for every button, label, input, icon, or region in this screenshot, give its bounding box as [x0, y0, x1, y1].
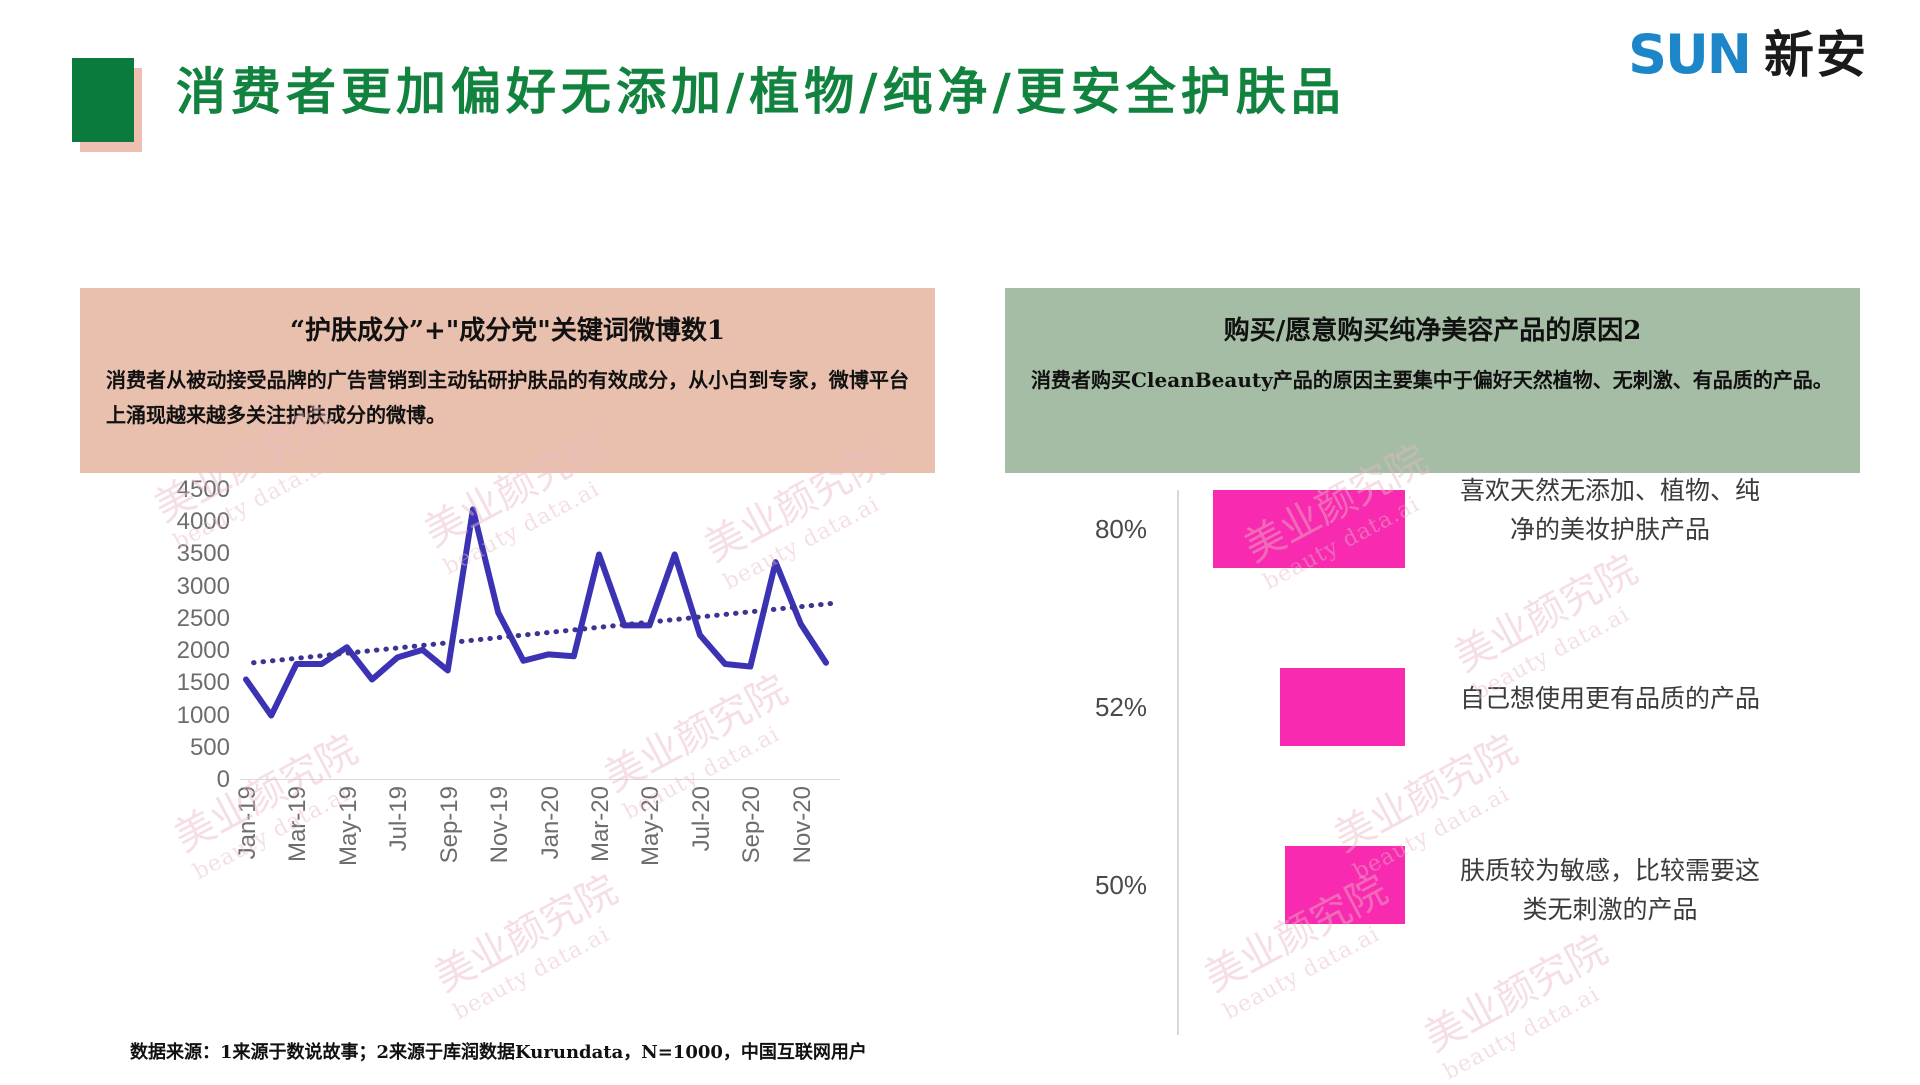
right-panel-title: 购买/愿意购买纯净美容产品的原因2: [1031, 310, 1834, 347]
x-axis-tick: May-20: [637, 786, 665, 866]
y-axis-tick: 2500: [177, 605, 230, 633]
x-axis-tick: Mar-19: [284, 786, 312, 862]
bar-chart-row: 52%: [1005, 668, 1905, 746]
line-chart-x-axis: Jan-19Mar-19May-19Jul-19Sep-19Nov-19Jan-…: [240, 786, 840, 916]
bar-chart-baseline: [1177, 490, 1179, 1035]
y-axis-tick: 0: [217, 766, 230, 794]
title-marker: [72, 58, 134, 142]
bar-fill: [1280, 668, 1405, 746]
bar-fill: [1213, 490, 1405, 568]
x-axis-tick: Nov-20: [789, 786, 817, 863]
page-title: 消费者更加偏好无添加/植物/纯净/更安全护肤品: [176, 52, 1346, 124]
bar-category-label: 肤质较为敏感，比较需要这类无刺激的产品: [1460, 852, 1760, 930]
y-axis-tick: 2000: [177, 637, 230, 665]
y-axis-tick: 1000: [177, 702, 230, 730]
x-axis-tick: Jan-19: [234, 786, 262, 859]
weibo-keyword-line-chart: 450040003500300025002000150010005000 Jan…: [80, 490, 940, 1010]
x-axis-tick: Nov-19: [486, 786, 514, 863]
bar-chart-row: 80%: [1005, 490, 1905, 568]
left-panel-title: “护肤成分”+"成分党"关键词微博数1: [106, 310, 909, 347]
y-axis-tick: 3500: [177, 540, 230, 568]
left-panel-subtitle: 消费者从被动接受品牌的广告营销到主动钻研护肤品的有效成分，从小白到专家，微博平台…: [106, 363, 909, 433]
line-series-path: [246, 509, 826, 715]
bar-chart-row: 50%: [1005, 846, 1905, 924]
x-axis-tick: Mar-20: [587, 786, 615, 862]
x-axis-tick: Sep-19: [436, 786, 464, 863]
line-chart-plot-area: [240, 490, 840, 780]
right-panel-header: 购买/愿意购买纯净美容产品的原因2 消费者购买CleanBeauty产品的原因主…: [1005, 288, 1860, 473]
x-axis-tick: Sep-20: [738, 786, 766, 863]
line-chart-y-axis: 450040003500300025002000150010005000: [120, 490, 230, 780]
bar-category-label: 喜欢天然无添加、植物、纯净的美妆护肤产品: [1460, 472, 1760, 550]
logo-sun-text: SUN: [1628, 28, 1750, 82]
bar-category-label: 自己想使用更有品质的产品: [1460, 680, 1760, 719]
source-note: 数据来源：1来源于数说故事；2来源于库润数据Kurundata，N=1000，中…: [130, 1038, 867, 1064]
x-axis-tick: Jul-20: [688, 786, 716, 851]
left-panel-header: “护肤成分”+"成分党"关键词微博数1 消费者从被动接受品牌的广告营销到主动钻研…: [80, 288, 935, 473]
right-panel-subtitle: 消费者购买CleanBeauty产品的原因主要集中于偏好天然植物、无刺激、有品质…: [1031, 363, 1834, 398]
x-axis-tick: Jan-20: [537, 786, 565, 859]
y-axis-tick: 4000: [177, 508, 230, 536]
clean-beauty-reasons-bar-chart: 80%喜欢天然无添加、植物、纯净的美妆护肤产品52%自己想使用更有品质的产品50…: [1005, 490, 1905, 1050]
x-axis-tick: May-19: [335, 786, 363, 866]
y-axis-tick: 500: [190, 734, 230, 762]
brand-logo: SUN 新安: [1628, 24, 1868, 86]
y-axis-tick: 1500: [177, 669, 230, 697]
logo-chinese-text: 新安: [1764, 30, 1868, 80]
bar-value-label: 52%: [1005, 692, 1165, 723]
bar-value-label: 50%: [1005, 870, 1165, 901]
slide-header: 消费者更加偏好无添加/植物/纯净/更安全护肤品 SUN 新安: [0, 0, 1920, 170]
y-axis-tick: 4500: [177, 476, 230, 504]
bar-fill: [1285, 846, 1405, 924]
bar-value-label: 80%: [1005, 514, 1165, 545]
line-chart-svg: [240, 490, 840, 780]
x-axis-tick: Jul-19: [385, 786, 413, 851]
y-axis-tick: 3000: [177, 573, 230, 601]
